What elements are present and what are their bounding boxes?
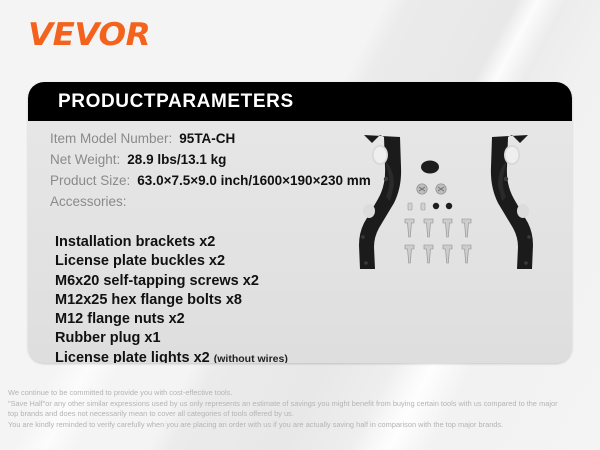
spec-row-model: Item Model Number: 95TA-CH <box>50 131 371 152</box>
disclaimer-line: top brands and does not necessarily mean… <box>8 409 592 420</box>
accessory-text: M12x25 hex flange bolts x8 <box>55 292 242 308</box>
accessory-text: M6x20 self-tapping screws x2 <box>55 273 259 289</box>
list-item: M12 flange nuts x2 <box>55 310 506 329</box>
accessory-text: License plate buckles x2 <box>55 253 225 269</box>
spec-label-model: Item Model Number: <box>50 131 172 146</box>
spec-value-size: 63.0×7.5×9.0 inch/1600×190×230 mm <box>137 173 370 188</box>
installation-bracket-left-icon <box>359 135 401 269</box>
bolts-row-2 <box>405 245 471 263</box>
brackets-hardware-illustration <box>342 127 550 287</box>
accessory-note: (without wires) <box>214 353 288 363</box>
product-parameters-card: PRODUCTPARAMETERS Item Model Number: 95T… <box>28 82 572 363</box>
spec-value-weight: 28.9 lbs/13.1 kg <box>127 152 226 167</box>
accessory-text: Rubber plug x1 <box>55 330 161 346</box>
spec-value-model: 95TA-CH <box>179 131 235 146</box>
installation-bracket-right-icon <box>491 135 533 269</box>
disclaimer-text: We continue to be committed to provide y… <box>8 388 592 430</box>
list-item: M12x25 hex flange bolts x8 <box>55 291 506 310</box>
product-photo <box>342 127 550 287</box>
spec-row-size: Product Size: 63.0×7.5×9.0 inch/1600×190… <box>50 173 371 194</box>
list-item: License plate lights x2 (without wires) <box>55 349 506 363</box>
bolts-row-1 <box>405 219 471 237</box>
disclaimer-line: "Save Half"or any other similar expressi… <box>8 399 592 410</box>
list-item: Rubber plug x1 <box>55 329 506 348</box>
accessory-text: Installation brackets x2 <box>55 234 215 250</box>
accessory-text: M12 flange nuts x2 <box>55 311 185 327</box>
spec-row-weight: Net Weight: 28.9 lbs/13.1 kg <box>50 152 371 173</box>
accessories-label: Accessories: <box>50 194 371 214</box>
product-parameters-page: VEVOR PRODUCTPARAMETERS Item Model Numbe… <box>0 0 600 450</box>
accessory-text: License plate lights x2 <box>55 350 210 363</box>
card-body: Item Model Number: 95TA-CH Net Weight: 2… <box>28 121 572 363</box>
spec-label-weight: Net Weight: <box>50 152 120 167</box>
card-header: PRODUCTPARAMETERS <box>28 82 572 121</box>
spec-list: Item Model Number: 95TA-CH Net Weight: 2… <box>50 131 371 214</box>
vevor-logo: VEVOR <box>28 20 150 51</box>
disclaimer-line: We continue to be committed to provide y… <box>8 388 592 399</box>
card-title: PRODUCTPARAMETERS <box>28 91 294 113</box>
spec-label-size: Product Size: <box>50 173 130 188</box>
disclaimer-line: You are kindly reminded to verify carefu… <box>8 420 592 431</box>
hardware-kit-icon <box>405 161 471 264</box>
